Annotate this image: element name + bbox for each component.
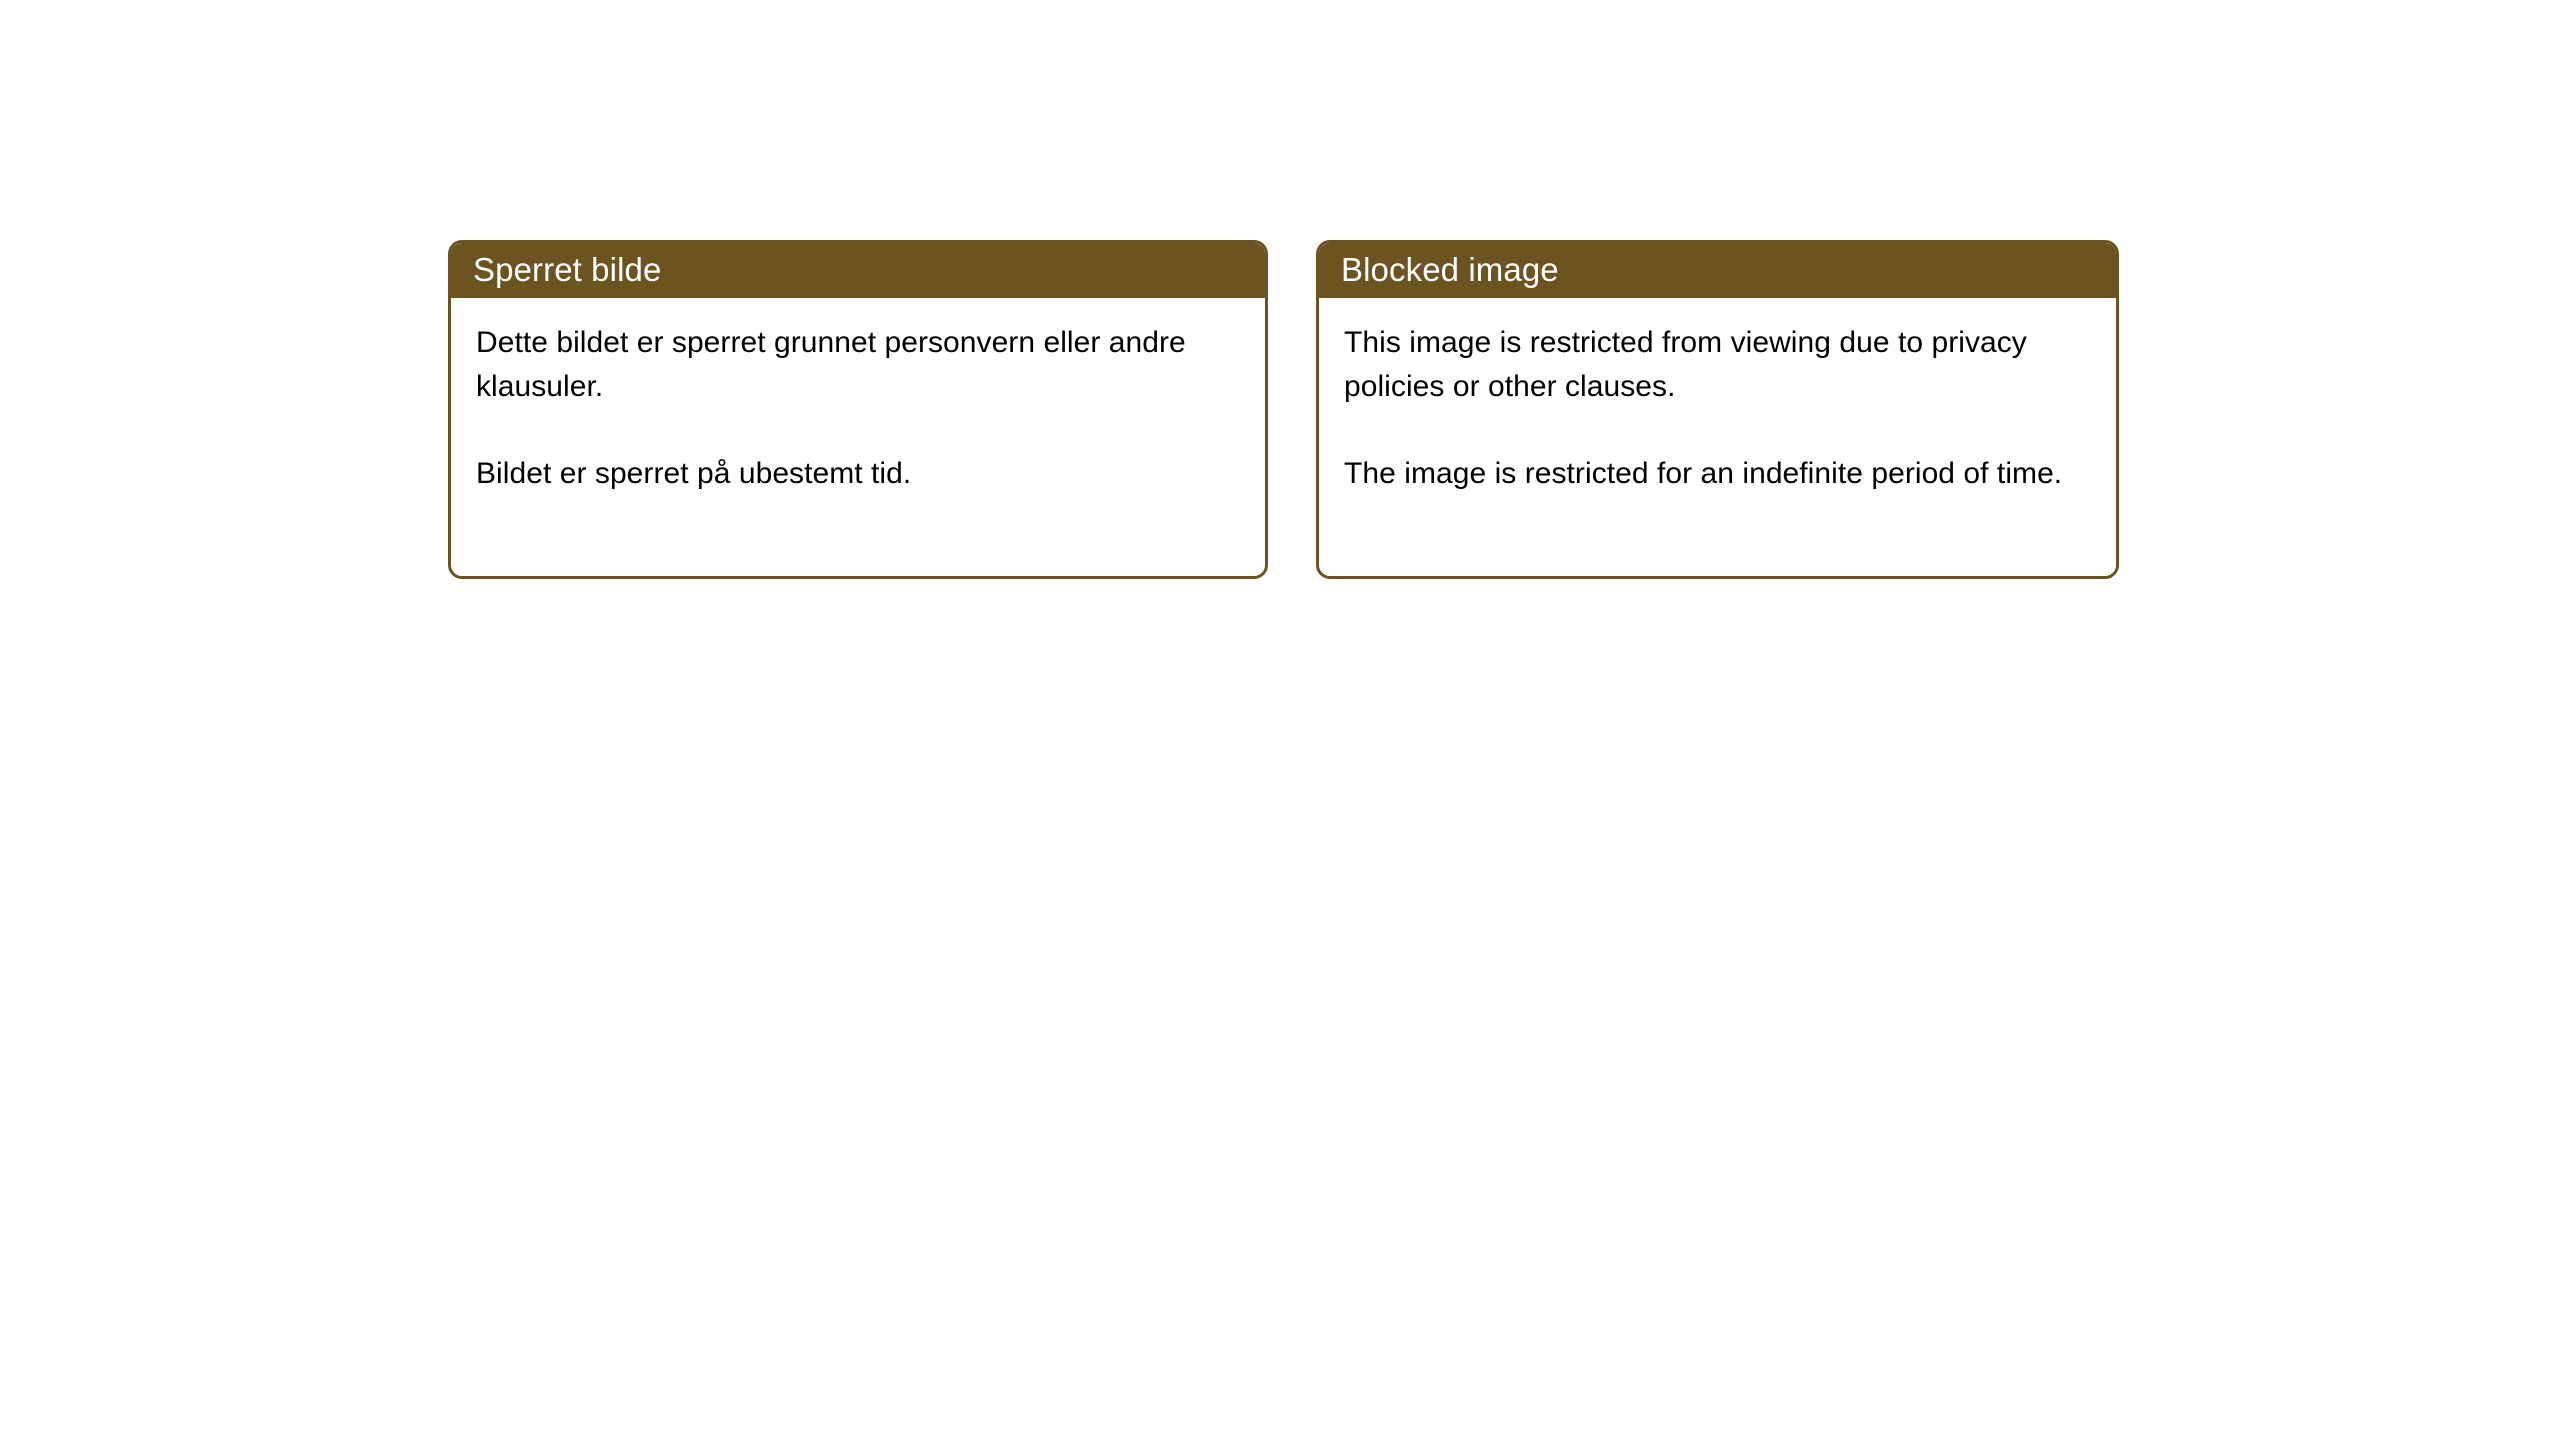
blocked-image-notice-card-english: Blocked image This image is restricted f… [1316, 240, 2119, 579]
notice-body-norwegian: Dette bildet er sperret grunnet personve… [451, 298, 1265, 576]
paragraph-spacer [1344, 409, 2092, 452]
blocked-image-notice-card-norwegian: Sperret bilde Dette bildet er sperret gr… [448, 240, 1268, 579]
notice-card-header-english: Blocked image [1316, 240, 2119, 298]
notice-body-english: This image is restricted from viewing du… [1319, 298, 2116, 576]
notice-paragraph-secondary-english: The image is restricted for an indefinit… [1344, 452, 2092, 496]
notice-paragraph-primary-norwegian: Dette bildet er sperret grunnet personve… [476, 321, 1241, 409]
paragraph-spacer [476, 409, 1241, 452]
blocked-image-notice-area: Sperret bilde Dette bildet er sperret gr… [448, 240, 2119, 579]
notice-title-norwegian: Sperret bilde [473, 253, 661, 286]
notice-title-english: Blocked image [1341, 253, 1559, 286]
notice-paragraph-primary-english: This image is restricted from viewing du… [1344, 321, 2092, 409]
notice-paragraph-secondary-norwegian: Bildet er sperret på ubestemt tid. [476, 452, 1241, 496]
notice-card-header-norwegian: Sperret bilde [448, 240, 1268, 298]
